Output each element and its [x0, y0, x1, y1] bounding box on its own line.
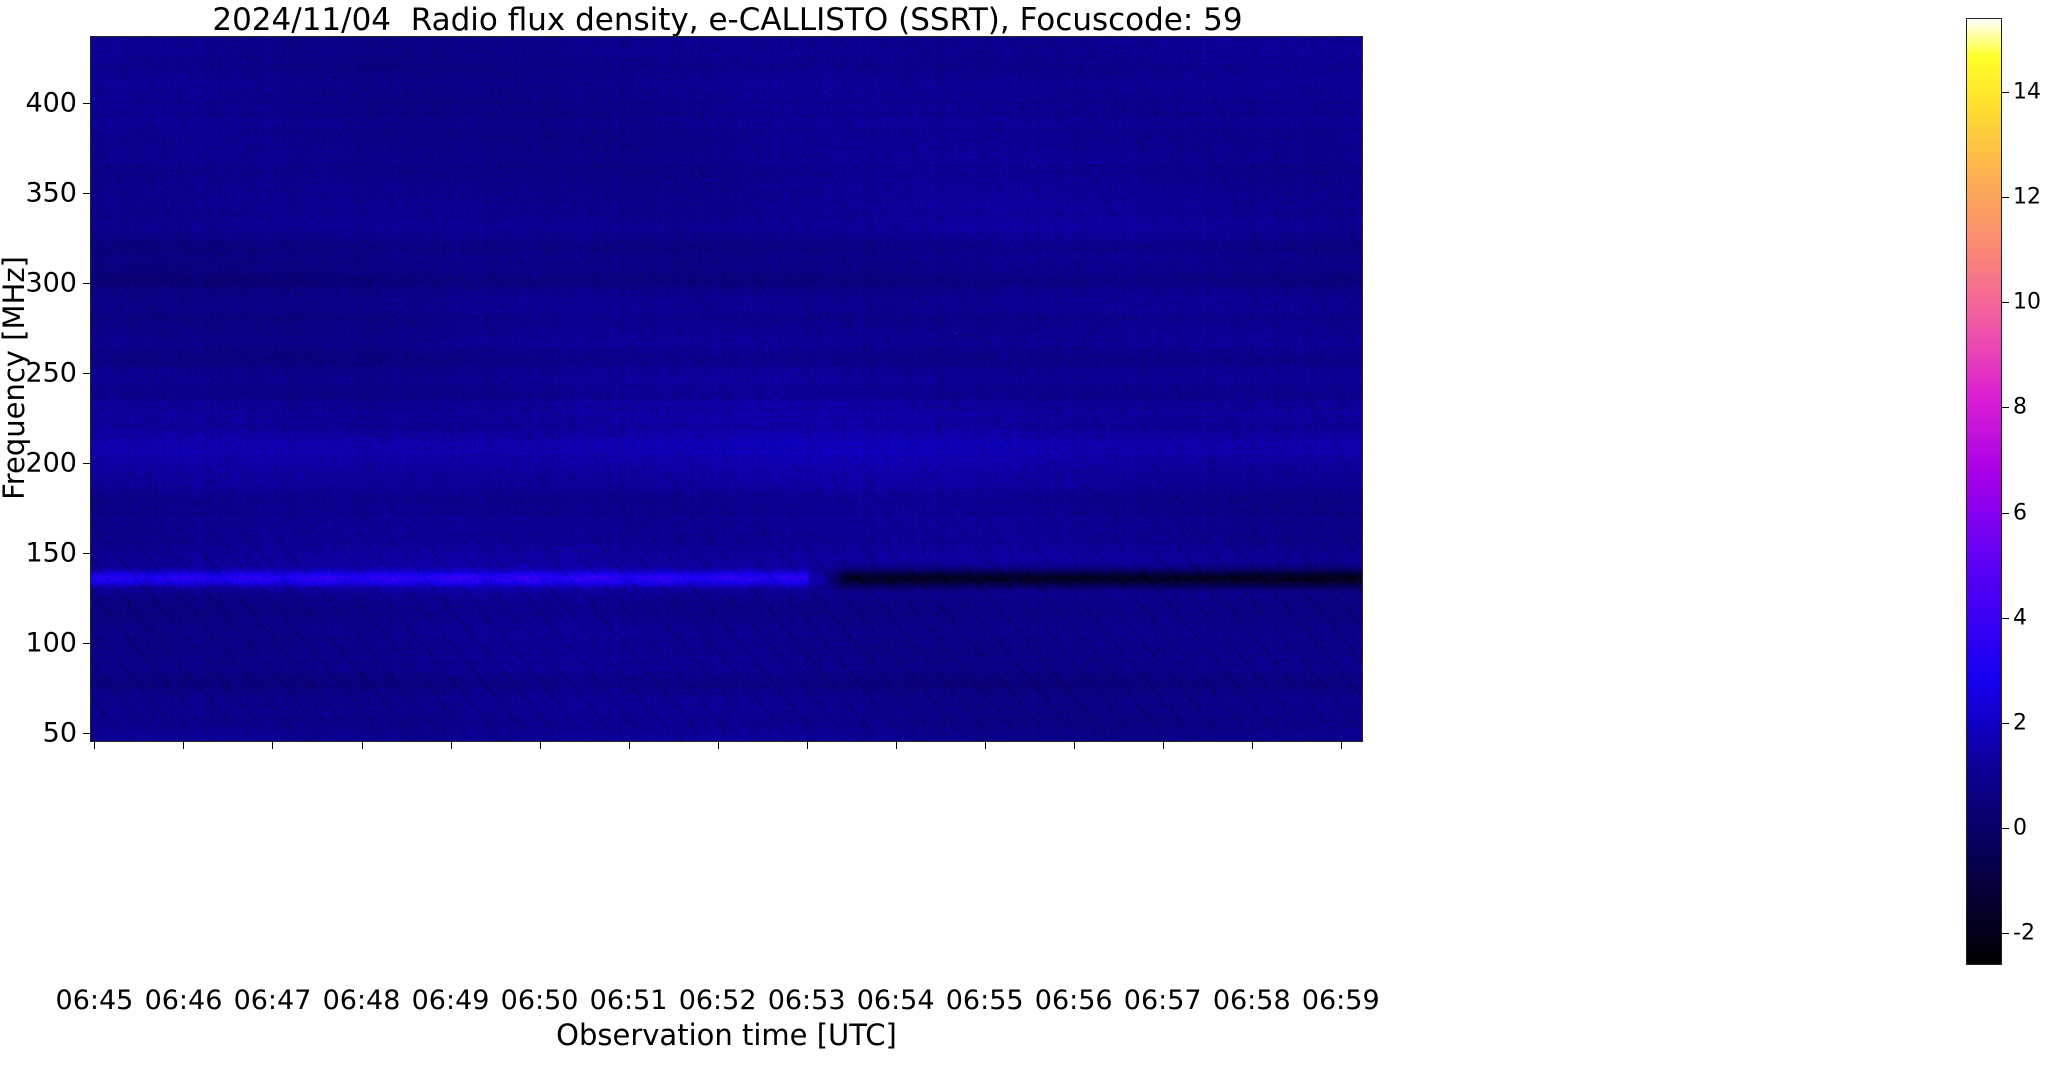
y-tick-mark: [83, 463, 90, 464]
x-tick-mark: [540, 742, 541, 749]
y-tick-mark: [83, 193, 90, 194]
colorbar-tick-label: 12: [2013, 184, 2041, 209]
x-tick-label: 06:49: [412, 985, 490, 1016]
x-tick-mark: [1074, 742, 1075, 749]
colorbar: [1966, 18, 2002, 965]
x-tick-label: 06:58: [1213, 985, 1291, 1016]
colorbar-tick-mark: [2002, 302, 2009, 303]
x-tick-label: 06:50: [501, 985, 579, 1016]
colorbar-tick-mark: [2002, 828, 2009, 829]
x-tick-label: 06:51: [590, 985, 668, 1016]
colorbar-tick-mark: [2002, 407, 2009, 408]
y-tick-mark: [83, 553, 90, 554]
x-tick-label: 06:48: [323, 985, 401, 1016]
y-tick-label: 300: [25, 267, 77, 298]
colorbar-tick-label: 6: [2013, 500, 2027, 525]
colorbar-tick-mark: [2002, 197, 2009, 198]
y-tick-label: 50: [43, 717, 77, 748]
x-tick-label: 06:56: [1035, 985, 1113, 1016]
colorbar-tick-label: 14: [2013, 79, 2041, 104]
y-tick-mark: [83, 283, 90, 284]
y-tick-label: 400: [25, 87, 77, 118]
y-tick-mark: [83, 733, 90, 734]
y-tick-mark: [83, 103, 90, 104]
x-tick-mark: [183, 742, 184, 749]
x-tick-mark: [362, 742, 363, 749]
colorbar-tick-mark: [2002, 723, 2009, 724]
x-tick-label: 06:54: [857, 985, 935, 1016]
x-tick-mark: [896, 742, 897, 749]
colorbar-tick-mark: [2002, 92, 2009, 93]
x-tick-mark: [1341, 742, 1342, 749]
colorbar-tick-label: 8: [2013, 395, 2027, 420]
figure-canvas: 2024/11/04 Radio flux density, e-CALLIST…: [0, 0, 2066, 1067]
y-tick-label: 100: [25, 627, 77, 658]
x-tick-label: 06:57: [1124, 985, 1202, 1016]
x-tick-mark: [807, 742, 808, 749]
y-tick-label: 200: [25, 447, 77, 478]
y-tick-mark: [83, 643, 90, 644]
colorbar-tick-mark: [2002, 618, 2009, 619]
x-tick-mark: [1163, 742, 1164, 749]
x-tick-mark: [985, 742, 986, 749]
colorbar-tick-label: 2: [2013, 710, 2027, 735]
chart-title: 2024/11/04 Radio flux density, e-CALLIST…: [0, 2, 1455, 38]
spectrogram-plot-area[interactable]: [90, 36, 1363, 742]
colorbar-tick-label: 4: [2013, 605, 2027, 630]
x-tick-mark: [1252, 742, 1253, 749]
colorbar-gradient: [1967, 19, 2001, 964]
colorbar-tick-label: -2: [2013, 921, 2035, 946]
colorbar-tick-label: 10: [2013, 290, 2041, 315]
y-tick-label: 150: [25, 537, 77, 568]
x-tick-mark: [94, 742, 95, 749]
spectrogram-image: [91, 37, 1362, 741]
colorbar-tick-label: 0: [2013, 816, 2027, 841]
x-tick-label: 06:59: [1302, 985, 1380, 1016]
x-axis-label: Observation time [UTC]: [90, 1018, 1363, 1052]
y-tick-label: 350: [25, 177, 77, 208]
x-tick-label: 06:52: [679, 985, 757, 1016]
colorbar-tick-mark: [2002, 933, 2009, 934]
x-tick-mark: [451, 742, 452, 749]
y-tick-mark: [83, 373, 90, 374]
x-tick-label: 06:55: [946, 985, 1024, 1016]
x-tick-label: 06:53: [768, 985, 846, 1016]
x-tick-mark: [629, 742, 630, 749]
y-tick-label: 250: [25, 357, 77, 388]
x-tick-mark: [272, 742, 273, 749]
x-tick-label: 06:45: [56, 985, 134, 1016]
x-tick-label: 06:46: [145, 985, 223, 1016]
x-tick-mark: [718, 742, 719, 749]
colorbar-tick-mark: [2002, 513, 2009, 514]
x-tick-label: 06:47: [234, 985, 312, 1016]
